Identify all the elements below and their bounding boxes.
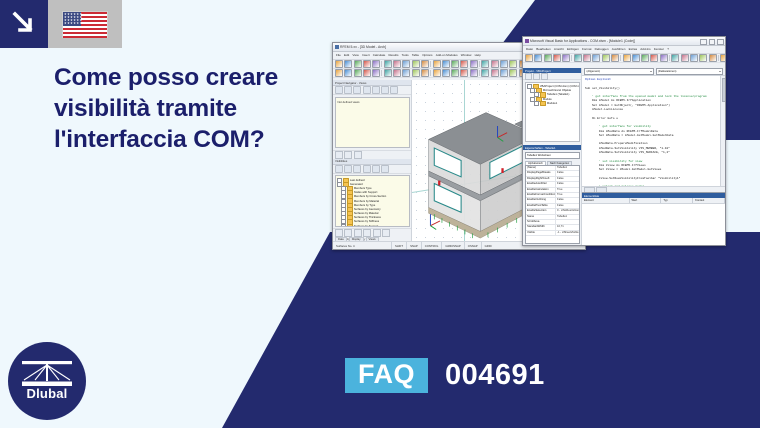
property-key: EnableFormatConditionsCalculation: [526, 193, 556, 197]
toolbar-button-icon[interactable]: [460, 69, 468, 77]
property-key: EnableAutoFilter: [526, 182, 556, 186]
page-title: Come posso creare visibilità tramite l'i…: [54, 62, 334, 155]
menu-item[interactable]: View: [352, 53, 358, 57]
visibilities-tree[interactable]: Last definedGeneratedMembers TypeNodes w…: [335, 175, 410, 227]
toolbar-separator: [430, 61, 431, 67]
page-title-line-2: visibilità tramite: [54, 93, 334, 124]
views-list-footer[interactable]: [333, 150, 411, 159]
toolbar-button-icon[interactable]: [509, 69, 517, 77]
code-lines[interactable]: Option Explicit Sub set_Visibility() ' g…: [585, 78, 722, 186]
product-screenshot: RFEM 5.xx - [3D Model - Arch] FileEditVi…: [332, 36, 724, 252]
top-left-badges: ★★★★★★ ★★★★★★ ★★★★★★ ★★★★★★: [0, 0, 122, 48]
toolbar-button-icon[interactable]: [709, 54, 717, 62]
property-value[interactable]: False: [556, 171, 579, 175]
column-header[interactable]: Wert: [630, 198, 662, 203]
faq-number: 004691: [445, 361, 545, 390]
toolbar-button-icon[interactable]: [451, 60, 459, 68]
maximize-icon[interactable]: [709, 39, 716, 45]
column-header[interactable]: Kontext: [693, 198, 725, 203]
toolbar-button-icon[interactable]: [335, 69, 343, 77]
nav-tool-icon[interactable]: [344, 86, 352, 94]
minimize-icon[interactable]: [700, 39, 707, 45]
tree-item-label: Surfaces by Geometry: [354, 208, 381, 211]
toolbar-button-icon[interactable]: [650, 54, 658, 62]
status-segment: OSNAP: [464, 242, 481, 249]
properties-header: Eigenschaften - Tabelle1: [523, 145, 581, 150]
navigator-toolbar[interactable]: [333, 86, 411, 95]
property-value[interactable]: 0 - xlNoRestrictions: [556, 209, 579, 213]
toolbar-button-icon[interactable]: [433, 69, 441, 77]
property-value[interactable]: Tabelle1: [556, 215, 579, 219]
property-key: EnablePivotTable: [526, 204, 556, 208]
property-value[interactable]: Tabelle1: [556, 166, 579, 170]
project-navigator[interactable]: Project Navigator - Views Not defined vi…: [333, 80, 412, 242]
toolbar-button-icon[interactable]: [344, 69, 352, 77]
toolbar-separator: [381, 61, 382, 67]
toolbar-button-icon[interactable]: [611, 54, 619, 62]
vba-toolbar[interactable]: [523, 54, 725, 63]
view-object-icon[interactable]: [533, 73, 540, 80]
dlubal-wordmark: Dlubal: [8, 386, 86, 401]
menu-item[interactable]: ?: [667, 47, 669, 51]
property-key: EnableSelection: [526, 209, 556, 213]
toolbar-button-icon[interactable]: [544, 54, 552, 62]
column-header[interactable]: Typ: [661, 198, 693, 203]
page-title-line-3: l'interfaccia COM?: [54, 124, 334, 155]
faq-bar: FAQ 004691: [345, 358, 545, 393]
toolbar-button-icon[interactable]: [690, 54, 698, 62]
menu-item[interactable]: Edit: [344, 53, 349, 57]
toolbar-button-icon[interactable]: [363, 60, 371, 68]
toolbar-button-icon[interactable]: [632, 54, 640, 62]
properties-object-select[interactable]: Tabelle1 Worksheet: [525, 152, 580, 159]
toolbar-button-icon[interactable]: [402, 60, 410, 68]
tree-item-label: Last defined: [350, 179, 365, 182]
toolbar-button-icon[interactable]: [442, 69, 450, 77]
toolbar-button-icon[interactable]: [509, 60, 517, 68]
toolbar-button-icon[interactable]: [500, 60, 508, 68]
tree-item-label: Members Type: [354, 187, 372, 190]
menu-item[interactable]: Add-Ins: [640, 47, 650, 51]
vis-tool-icon[interactable]: [372, 165, 380, 173]
nav-tool-icon[interactable]: [381, 86, 389, 94]
menu-item[interactable]: Format: [582, 47, 592, 51]
tree-item[interactable]: Surfaces by Support: [337, 224, 408, 226]
element-list-pane[interactable]: Elementliste ElementWertTypKontext: [582, 192, 725, 245]
toolbar-button-icon[interactable]: [393, 60, 401, 68]
code-line[interactable]: ' unlock and release model: [585, 185, 722, 186]
property-key: Visible: [526, 231, 556, 235]
page-title-line-1: Come posso creare: [54, 62, 334, 93]
flag-canton: ★★★★★★ ★★★★★★ ★★★★★★ ★★★★★★: [63, 12, 81, 27]
vis-tool-icon[interactable]: [353, 165, 361, 173]
property-row[interactable]: Visible-1 - xlSheetVisible: [526, 231, 579, 236]
toolbar-button-icon[interactable]: [562, 54, 570, 62]
toolbar-separator: [479, 70, 480, 76]
view-add-icon[interactable]: [335, 151, 343, 159]
toolbar-button-icon[interactable]: [500, 69, 508, 77]
property-value[interactable]: -1 - xlSheetVisible: [556, 231, 579, 235]
tree-item-label: Members by Material: [354, 200, 379, 203]
column-header[interactable]: Element: [582, 198, 630, 203]
view-code-icon[interactable]: [525, 73, 532, 80]
view-delete-icon[interactable]: [354, 151, 362, 159]
menu-item[interactable]: File: [336, 53, 341, 57]
toolbar-button-icon[interactable]: [681, 54, 689, 62]
decorative-wedge-bottom: [0, 232, 760, 428]
toolbar-button-icon[interactable]: [372, 69, 380, 77]
toolbar-button-icon[interactable]: [660, 54, 668, 62]
property-key: ScrollArea: [526, 220, 556, 224]
menu-item[interactable]: Help: [475, 53, 481, 57]
toolbar-button-icon[interactable]: [491, 69, 499, 77]
object-dropdown[interactable]: (Allgemein): [584, 68, 654, 75]
rfem-app-icon: [335, 45, 339, 49]
toolbar-button-icon[interactable]: [354, 69, 362, 77]
procedure-dropdown[interactable]: (Deklarationen): [656, 68, 724, 75]
tree-item-label: Surfaces by Thickness: [354, 216, 381, 219]
vba-editor-window[interactable]: Microsoft Visual Basic for Applications …: [522, 36, 726, 246]
tree-item-label: Surfaces by Stiffness: [354, 220, 379, 223]
vis-tool-icon[interactable]: [344, 165, 352, 173]
status-segment: SNAP: [406, 242, 421, 249]
status-segment: SHIFT: [391, 242, 406, 249]
element-list-columns[interactable]: ElementWertTypKontext: [582, 198, 725, 204]
toolbar-button-icon[interactable]: [460, 60, 468, 68]
toolbar-button-icon[interactable]: [421, 60, 429, 68]
toolbar-button-icon[interactable]: [412, 69, 420, 77]
tree-item-label: VBAProject (COM.xlsm) (COM.xlsm): [540, 85, 580, 88]
vis-tool-icon[interactable]: [381, 165, 389, 173]
toolbar-button-icon[interactable]: [402, 69, 410, 77]
tree-item-label: Surfaces by Support: [354, 225, 378, 227]
property-value[interactable]: [556, 220, 579, 224]
nav-tool-icon[interactable]: [372, 86, 380, 94]
menu-item[interactable]: Extras: [629, 47, 638, 51]
toolbar-button-icon[interactable]: [641, 54, 649, 62]
vba-app-icon: [525, 39, 529, 43]
toolbar-button-icon[interactable]: [344, 60, 352, 68]
view-edit-icon[interactable]: [344, 151, 352, 159]
vis-down-icon[interactable]: [382, 229, 390, 237]
status-segment: GRID/SNAP: [441, 242, 463, 249]
vba-title: Microsoft Visual Basic for Applications …: [530, 39, 635, 43]
toolbar-button-icon[interactable]: [354, 60, 362, 68]
menu-item[interactable]: Datei: [526, 47, 533, 51]
toolbar-button-icon[interactable]: [534, 54, 542, 62]
vba-code-pane: (Allgemein) (Deklarationen) Option Expli…: [582, 68, 725, 245]
vis-tool-icon[interactable]: [363, 165, 371, 173]
arrow-down-right-icon[interactable]: [0, 0, 48, 48]
toolbar-button-icon[interactable]: [671, 54, 679, 62]
menu-item[interactable]: Bearbeiten: [536, 47, 551, 51]
toolbar-button-icon[interactable]: [525, 54, 533, 62]
code-scrollbar[interactable]: [720, 76, 725, 186]
tree-item-label: Members by Type: [354, 204, 375, 207]
property-value[interactable]: 10,71: [556, 225, 579, 229]
property-key: (Name): [526, 166, 556, 170]
folder-icon: [540, 101, 546, 106]
toolbar-separator: [479, 61, 480, 67]
toolbar-button-icon[interactable]: [442, 60, 450, 68]
menu-item[interactable]: Fenster: [654, 47, 664, 51]
menu-item[interactable]: Options: [422, 53, 432, 57]
expand-toggle-icon[interactable]: [341, 224, 346, 227]
toggle-folders-icon[interactable]: [541, 73, 548, 80]
rfem-title: RFEM 5.xx - [3D Model - Arch]: [340, 45, 386, 49]
property-value[interactable]: True: [556, 188, 579, 192]
menu-item[interactable]: Add-on Modules: [436, 53, 458, 57]
menu-item[interactable]: Insert: [362, 53, 370, 57]
property-key: StandardWidth: [526, 225, 556, 229]
vba-body: Projekt - VBAProject VBAProject (COM.xls…: [523, 68, 725, 245]
menu-item[interactable]: Tools: [402, 53, 409, 57]
toolbar-button-icon[interactable]: [384, 69, 392, 77]
vba-menubar[interactable]: DateiBearbeitenAnsichtEinfügenFormatDebu…: [523, 46, 725, 54]
dlubal-logo[interactable]: Dlubal: [8, 342, 86, 420]
nav-tool-icon[interactable]: [353, 86, 361, 94]
toolbar-button-icon[interactable]: [433, 60, 441, 68]
slide-canvas: RFEM 5.xx - [3D Model - Arch] FileEditVi…: [0, 0, 760, 428]
code-editor[interactable]: Option Explicit Sub set_Visibility() ' g…: [582, 76, 725, 186]
property-key: Name: [526, 215, 556, 219]
tree-item-label: Nodes with Support: [354, 191, 377, 194]
menu-item[interactable]: Ausführen: [612, 47, 626, 51]
property-value[interactable]: True: [556, 193, 579, 197]
folder-icon: [347, 224, 353, 227]
tree-item-label: Surfaces by Material: [354, 212, 379, 215]
vis-tool-icon[interactable]: [335, 165, 343, 173]
property-value[interactable]: False: [556, 177, 579, 181]
property-value[interactable]: False: [556, 182, 579, 186]
tree-item-label: Module1: [547, 102, 557, 105]
toolbar-button-icon[interactable]: [592, 54, 600, 62]
toolbar-button-icon[interactable]: [372, 60, 380, 68]
status-segment: CONTROL: [421, 242, 442, 249]
project-explorer-tree[interactable]: VBAProject (COM.xlsm) (COM.xlsm)Microsof…: [525, 82, 580, 142]
toolbar-button-icon[interactable]: [481, 60, 489, 68]
tree-item[interactable]: Module1: [527, 101, 578, 105]
toolbar-button-icon[interactable]: [384, 60, 392, 68]
close-icon[interactable]: [717, 39, 724, 45]
toolbar-separator: [718, 55, 719, 61]
toolbar-button-icon[interactable]: [470, 60, 478, 68]
properties-grid[interactable]: (Name)Tabelle1DisplayPageBreaksFalseDisp…: [525, 165, 580, 244]
menu-item[interactable]: Window: [461, 53, 472, 57]
toolbar-button-icon[interactable]: [602, 54, 610, 62]
property-value[interactable]: False: [556, 198, 579, 202]
toolbar-button-icon[interactable]: [363, 69, 371, 77]
toolbar-button-icon[interactable]: [553, 54, 561, 62]
us-flag-icon: ★★★★★★ ★★★★★★ ★★★★★★ ★★★★★★: [62, 11, 108, 38]
tree-item-label: Microsoft Excel Objekte: [543, 89, 571, 92]
views-list[interactable]: Not defined views: [335, 97, 410, 149]
property-key: EnableCalculation: [526, 188, 556, 192]
menu-item[interactable]: Calculate: [373, 53, 386, 57]
toolbar-separator: [430, 70, 431, 76]
vba-side-panels: Projekt - VBAProject VBAProject (COM.xls…: [523, 68, 582, 245]
toolbar-button-icon[interactable]: [623, 54, 631, 62]
toolbar-button-icon[interactable]: [574, 54, 582, 62]
property-key: EnableOutlining: [526, 198, 556, 202]
project-explorer-toolbar[interactable]: [523, 73, 581, 80]
vba-titlebar: Microsoft Visual Basic for Applications …: [523, 37, 725, 46]
code-dropdowns[interactable]: (Allgemein) (Deklarationen): [582, 68, 725, 76]
toolbar-button-icon[interactable]: [583, 54, 591, 62]
toolbar-button-icon[interactable]: [470, 69, 478, 77]
menu-item[interactable]: Einfügen: [567, 47, 579, 51]
toolbar-button-icon[interactable]: [335, 60, 343, 68]
expand-toggle-icon[interactable]: [534, 101, 539, 106]
toolbar-button-icon[interactable]: [481, 69, 489, 77]
language-flag-badge[interactable]: ★★★★★★ ★★★★★★ ★★★★★★ ★★★★★★: [48, 0, 122, 48]
tree-item-label: Members by Cross-Section: [354, 195, 386, 198]
bridge-truss-icon: [22, 361, 72, 386]
tree-item-label: Tabelle1 (Tabelle1): [547, 93, 570, 96]
toolbar-separator: [620, 55, 621, 61]
nav-tool-icon[interactable]: [390, 86, 398, 94]
visibilities-toolbar[interactable]: [333, 165, 411, 174]
toolbar-button-icon[interactable]: [491, 60, 499, 68]
toolbar-button-icon[interactable]: [699, 54, 707, 62]
menu-item[interactable]: Table: [412, 53, 419, 57]
toolbar-separator: [381, 70, 382, 76]
toolbar-button-icon[interactable]: [451, 69, 459, 77]
toolbar-button-icon[interactable]: [412, 60, 420, 68]
toolbar-button-icon[interactable]: [421, 69, 429, 77]
status-segment: Surfaces No. 4: [333, 242, 391, 249]
menu-item[interactable]: Results: [388, 53, 398, 57]
scrollbar-thumb[interactable]: [722, 78, 726, 102]
toolbar-button-icon[interactable]: [720, 54, 725, 62]
property-key: DisplayRightToLeft: [526, 177, 556, 181]
toolbar-separator: [669, 55, 670, 61]
status-segment: GRID: [481, 242, 495, 249]
toolbar-separator: [571, 55, 572, 61]
property-value[interactable]: False: [556, 204, 579, 208]
menu-item[interactable]: Debuggen: [595, 47, 609, 51]
property-key: DisplayPageBreaks: [526, 171, 556, 175]
faq-badge: FAQ: [345, 358, 428, 393]
nav-tool-icon[interactable]: [363, 86, 371, 94]
vba-window-controls[interactable]: [700, 39, 724, 45]
toolbar-button-icon[interactable]: [393, 69, 401, 77]
nav-tool-icon[interactable]: [335, 86, 343, 94]
menu-item[interactable]: Ansicht: [554, 47, 564, 51]
